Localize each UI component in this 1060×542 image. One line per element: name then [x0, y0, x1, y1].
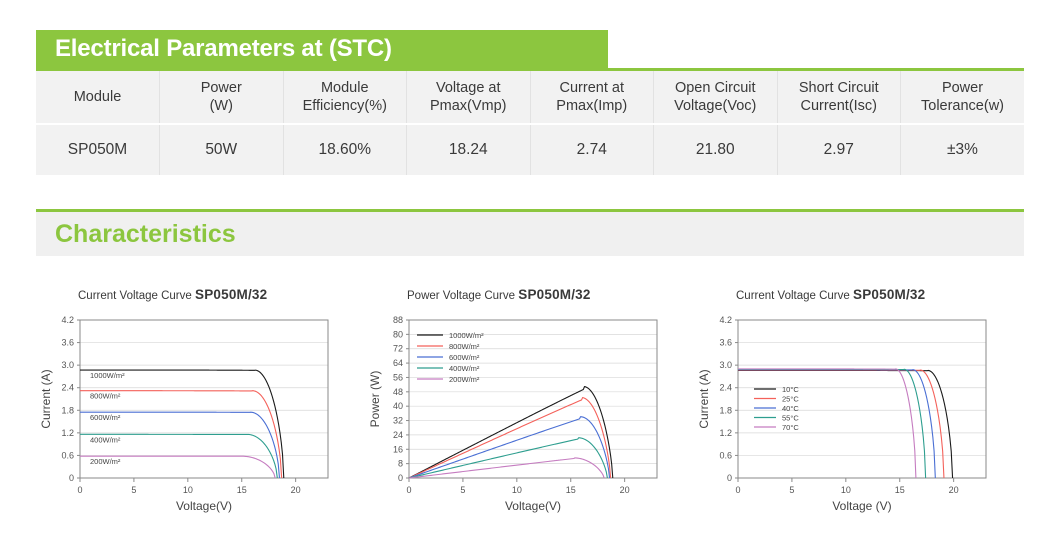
header-line-1: Short Circuit	[782, 79, 897, 97]
column-header-module-efficiency: Module Efficiency(%)	[283, 71, 407, 124]
column-header-short-circuit-current: Short Circuit Current(Isc)	[777, 71, 901, 124]
cell-voltage-at-pmax: 18.24	[407, 124, 531, 175]
svg-text:Current (A): Current (A)	[697, 369, 711, 428]
table-row: SP050M 50W 18.60% 18.24 2.74 21.80 2.97 …	[36, 124, 1024, 175]
header-line-1: Current at	[535, 79, 650, 97]
chart-3-caption-prefix: Current Voltage Curve	[736, 290, 850, 302]
electrical-parameters-title-bar: Electrical Parameters at (STC)	[36, 30, 608, 68]
cell-current-at-pmax: 2.74	[530, 124, 654, 175]
svg-text:2.4: 2.4	[719, 383, 732, 393]
legend-label: 600W/m²	[449, 353, 480, 362]
page-title: Electrical Parameters at (STC)	[55, 37, 392, 61]
legend-label: 55°C	[782, 414, 799, 423]
electrical-parameters-table: Module Power (W) Module Efficiency(%) Vo…	[36, 71, 1024, 175]
svg-text:10: 10	[841, 485, 851, 495]
column-header-power-tolerance: Power Tolerance(w)	[901, 71, 1025, 124]
chart-3-caption: Current Voltage Curve SP050M/32	[736, 288, 1023, 302]
cell-module: SP050M	[36, 124, 160, 175]
header-line-1: Open Circuit	[658, 79, 773, 97]
svg-text:24: 24	[393, 430, 403, 440]
series-label: 800W/m²	[90, 392, 121, 401]
svg-text:72: 72	[393, 344, 403, 354]
svg-text:1.8: 1.8	[61, 405, 74, 415]
header-line-1: Module	[288, 79, 403, 97]
svg-text:3.0: 3.0	[61, 360, 74, 370]
svg-text:3.6: 3.6	[719, 338, 732, 348]
characteristics-charts-row: Current Voltage Curve SP050M/32 00.61.21…	[36, 288, 1024, 528]
svg-text:20: 20	[620, 485, 630, 495]
header-line-1: Power	[164, 79, 279, 97]
column-header-voltage-at-pmax: Voltage at Pmax(Vmp)	[407, 71, 531, 124]
svg-text:1.2: 1.2	[61, 428, 74, 438]
series-label: 1000W/m²	[90, 371, 125, 380]
chart-1-caption-model: SP050M/32	[195, 287, 267, 302]
chart-power-voltage-irradiance: Power Voltage Curve SP050M/32 0816243240…	[365, 288, 694, 528]
svg-text:Voltage (V): Voltage (V)	[832, 499, 891, 513]
svg-text:80: 80	[393, 329, 403, 339]
svg-text:Voltage(V): Voltage(V)	[176, 499, 232, 513]
series-label: 200W/m²	[90, 457, 121, 466]
chart-2-plot: 081624324048566472808805101520Voltage(V)…	[365, 312, 694, 517]
svg-text:40: 40	[393, 401, 403, 411]
svg-text:10: 10	[183, 485, 193, 495]
svg-text:5: 5	[460, 485, 465, 495]
svg-text:0: 0	[727, 473, 732, 483]
characteristics-title: Characteristics	[55, 222, 236, 247]
header-line-2: Voltage(Voc)	[658, 97, 773, 115]
svg-text:3.6: 3.6	[61, 338, 74, 348]
svg-text:Power (W): Power (W)	[368, 371, 382, 428]
cell-open-circuit-voltage: 21.80	[654, 124, 778, 175]
header-line-1: Voltage at	[411, 79, 526, 97]
svg-text:4.2: 4.2	[61, 315, 74, 325]
table-header-row: Module Power (W) Module Efficiency(%) Vo…	[36, 71, 1024, 124]
svg-text:Voltage(V): Voltage(V)	[505, 499, 561, 513]
characteristics-title-bar: Characteristics	[36, 212, 1024, 256]
legend-label: 25°C	[782, 395, 799, 404]
svg-text:8: 8	[398, 459, 403, 469]
header-line-2: Pmax(Imp)	[535, 97, 650, 115]
legend-label: 400W/m²	[449, 364, 480, 373]
chart-1-caption: Current Voltage Curve SP050M/32	[78, 288, 365, 302]
legend-label: 70°C	[782, 423, 799, 432]
chart-1-svg: 00.61.21.82.43.03.64.205101520Voltage(V)…	[36, 312, 356, 517]
legend-label: 40°C	[782, 404, 799, 413]
chart-1-caption-prefix: Current Voltage Curve	[78, 290, 192, 302]
legend-label: 1000W/m²	[449, 331, 484, 340]
header-line-2: Pmax(Vmp)	[411, 97, 526, 115]
chart-3-svg: 00.61.21.82.43.03.64.205101520Voltage (V…	[694, 312, 1014, 517]
column-header-module: Module	[36, 71, 160, 124]
column-header-current-at-pmax: Current at Pmax(Imp)	[530, 71, 654, 124]
chart-2-caption: Power Voltage Curve SP050M/32	[407, 288, 694, 302]
svg-text:0: 0	[69, 473, 74, 483]
electrical-parameters-section: Electrical Parameters at (STC) Module Po…	[36, 30, 1024, 175]
svg-text:1.2: 1.2	[719, 428, 732, 438]
svg-text:0: 0	[735, 485, 740, 495]
chart-2-svg: 081624324048566472808805101520Voltage(V)…	[365, 312, 685, 517]
svg-text:0: 0	[406, 485, 411, 495]
svg-text:Current (A): Current (A)	[39, 369, 53, 428]
svg-text:4.2: 4.2	[719, 315, 732, 325]
svg-text:64: 64	[393, 358, 403, 368]
header-line-1: Module	[40, 88, 155, 106]
cell-power-tolerance: ±3%	[901, 124, 1025, 175]
svg-text:88: 88	[393, 315, 403, 325]
svg-text:56: 56	[393, 372, 403, 382]
header-line-2: Current(Isc)	[782, 97, 897, 115]
svg-text:20: 20	[291, 485, 301, 495]
header-line-2: Tolerance(w)	[905, 97, 1020, 115]
legend-label: 200W/m²	[449, 375, 480, 384]
svg-text:2.4: 2.4	[61, 383, 74, 393]
svg-text:0: 0	[398, 473, 403, 483]
header-line-2: (W)	[164, 97, 279, 115]
chart-2-caption-prefix: Power Voltage Curve	[407, 290, 515, 302]
chart-1-plot: 00.61.21.82.43.03.64.205101520Voltage(V)…	[36, 312, 365, 517]
legend-label: 800W/m²	[449, 342, 480, 351]
cell-short-circuit-current: 2.97	[777, 124, 901, 175]
series-label: 400W/m²	[90, 435, 121, 444]
header-line-2: Efficiency(%)	[288, 97, 403, 115]
characteristics-section: Characteristics	[36, 209, 1024, 256]
series-label: 600W/m²	[90, 413, 121, 422]
chart-current-voltage-temperature: Current Voltage Curve SP050M/32 00.61.21…	[694, 288, 1023, 528]
svg-text:1.8: 1.8	[719, 405, 732, 415]
column-header-open-circuit-voltage: Open Circuit Voltage(Voc)	[654, 71, 778, 124]
chart-3-caption-model: SP050M/32	[853, 287, 925, 302]
svg-text:3.0: 3.0	[719, 360, 732, 370]
svg-text:15: 15	[237, 485, 247, 495]
svg-text:15: 15	[895, 485, 905, 495]
chart-3-plot: 00.61.21.82.43.03.64.205101520Voltage (V…	[694, 312, 1023, 517]
svg-text:5: 5	[131, 485, 136, 495]
svg-text:0.6: 0.6	[61, 450, 74, 460]
svg-text:48: 48	[393, 387, 403, 397]
svg-text:10: 10	[512, 485, 522, 495]
chart-current-voltage-irradiance: Current Voltage Curve SP050M/32 00.61.21…	[36, 288, 365, 528]
svg-text:0: 0	[77, 485, 82, 495]
chart-2-caption-model: SP050M/32	[518, 287, 590, 302]
svg-text:5: 5	[789, 485, 794, 495]
header-line-1: Power	[905, 79, 1020, 97]
svg-text:15: 15	[566, 485, 576, 495]
cell-power: 50W	[160, 124, 284, 175]
svg-text:0.6: 0.6	[719, 450, 732, 460]
svg-text:16: 16	[393, 444, 403, 454]
svg-text:20: 20	[949, 485, 959, 495]
legend-label: 10°C	[782, 385, 799, 394]
cell-module-efficiency: 18.60%	[283, 124, 407, 175]
column-header-power: Power (W)	[160, 71, 284, 124]
svg-text:32: 32	[393, 416, 403, 426]
